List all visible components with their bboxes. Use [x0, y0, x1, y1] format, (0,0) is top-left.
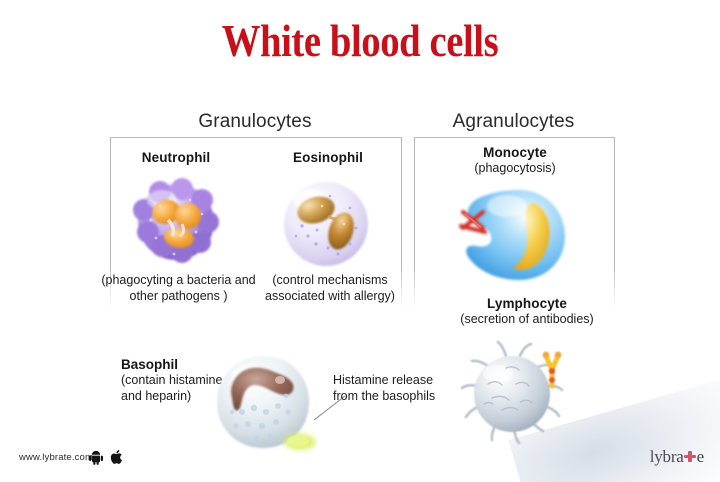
- cell-caption-neutrophil: (phagocyting a bacteria and other pathog…: [96, 273, 261, 304]
- footer-url[interactable]: www.lybrate.com: [19, 452, 93, 463]
- cell-caption-lymphocyte: (secretion of antibodies): [432, 312, 622, 328]
- medical-cross-icon: [684, 450, 697, 463]
- brand-logo[interactable]: lybra e: [650, 447, 704, 467]
- infographic-poster: White blood cells Granulocytes Agranuloc…: [0, 0, 720, 482]
- apple-icon[interactable]: [109, 449, 123, 465]
- histamine-annotation: Histamine release from the basophils: [333, 373, 453, 405]
- basophil-illustration: [208, 350, 318, 454]
- monocyte-illustration: [449, 182, 577, 287]
- cell-label-lymphocyte: Lymphocyte: [432, 296, 622, 311]
- brand-logo-suffix: e: [697, 447, 704, 467]
- neutrophil-illustration: [124, 172, 228, 272]
- lymphocyte-illustration: [458, 340, 568, 448]
- section-heading-agranulocytes: Agranulocytes: [414, 111, 613, 133]
- page-title: White blood cells: [50, 18, 669, 65]
- cell-label-basophil: Basophil: [121, 357, 178, 372]
- cell-label-monocyte: Monocyte: [435, 145, 595, 160]
- eosinophil-illustration: [272, 172, 380, 272]
- cell-label-neutrophil: Neutrophil: [106, 150, 246, 165]
- android-icon[interactable]: [89, 450, 103, 465]
- cell-label-eosinophil: Eosinophil: [258, 150, 398, 165]
- cell-caption-monocyte: (phagocytosis): [435, 161, 595, 177]
- cell-caption-eosinophil: (control mechanisms associated with alle…: [255, 273, 405, 304]
- brand-logo-prefix: lybra: [650, 447, 684, 467]
- section-heading-granulocytes: Granulocytes: [110, 111, 400, 133]
